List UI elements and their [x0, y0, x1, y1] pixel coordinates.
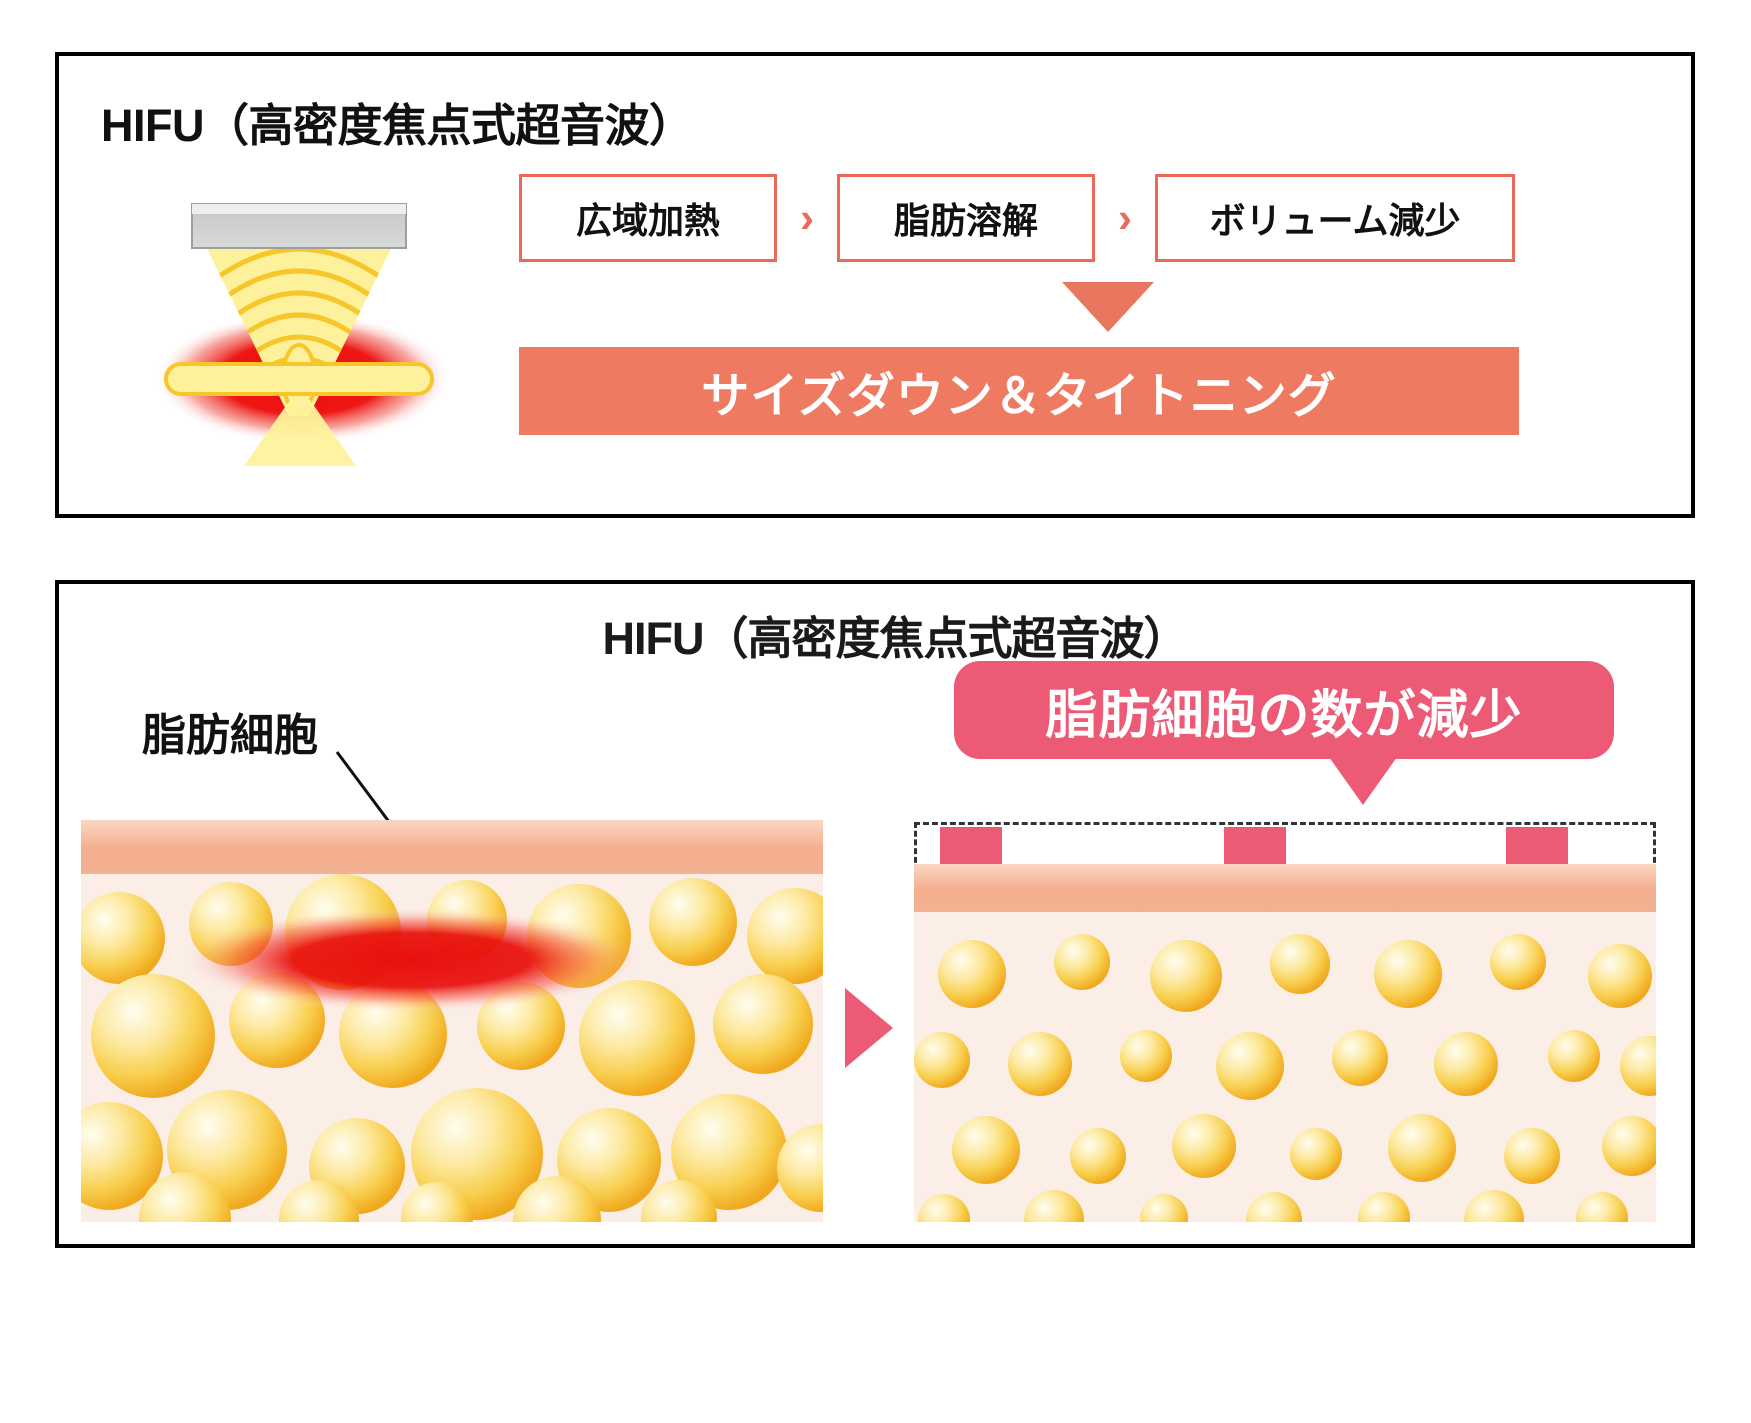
- fat-cell-label: 脂肪細胞: [142, 699, 318, 763]
- callout-bubble-tail: [1329, 757, 1397, 805]
- skin-cross-section-before: [81, 820, 823, 1222]
- hifu-transducer-illustration: [134, 166, 464, 486]
- chevron-right-icon-1: ›: [777, 197, 837, 239]
- arrow-down-icon: [1062, 282, 1154, 332]
- flow-steps-row: 広域加熱 › 脂肪溶解 › ボリューム減少: [519, 174, 1519, 262]
- chevron-right-icon-2: ›: [1095, 197, 1155, 239]
- panel-hifu-mechanism: HIFU（高密度焦点式超音波）: [55, 52, 1695, 518]
- callout-bubble: 脂肪細胞の数が減少: [954, 661, 1614, 759]
- page-title: HIFU（高密度焦点式超音波）: [101, 89, 694, 154]
- flow-step-1: 広域加熱: [519, 174, 777, 262]
- page-subtitle: HIFU（高密度焦点式超音波）: [59, 602, 1691, 667]
- infographic-root: HIFU（高密度焦点式超音波）: [0, 0, 1751, 1423]
- skin-cross-section-after: [914, 864, 1656, 1222]
- result-banner: サイズダウン＆タイトニング: [519, 347, 1519, 435]
- flow-step-3: ボリューム減少: [1155, 174, 1515, 262]
- arrow-right-icon: [845, 988, 893, 1068]
- panel-fat-cell-reduction: HIFU（高密度焦点式超音波） 脂肪細胞: [55, 580, 1695, 1248]
- flow-step-2: 脂肪溶解: [837, 174, 1095, 262]
